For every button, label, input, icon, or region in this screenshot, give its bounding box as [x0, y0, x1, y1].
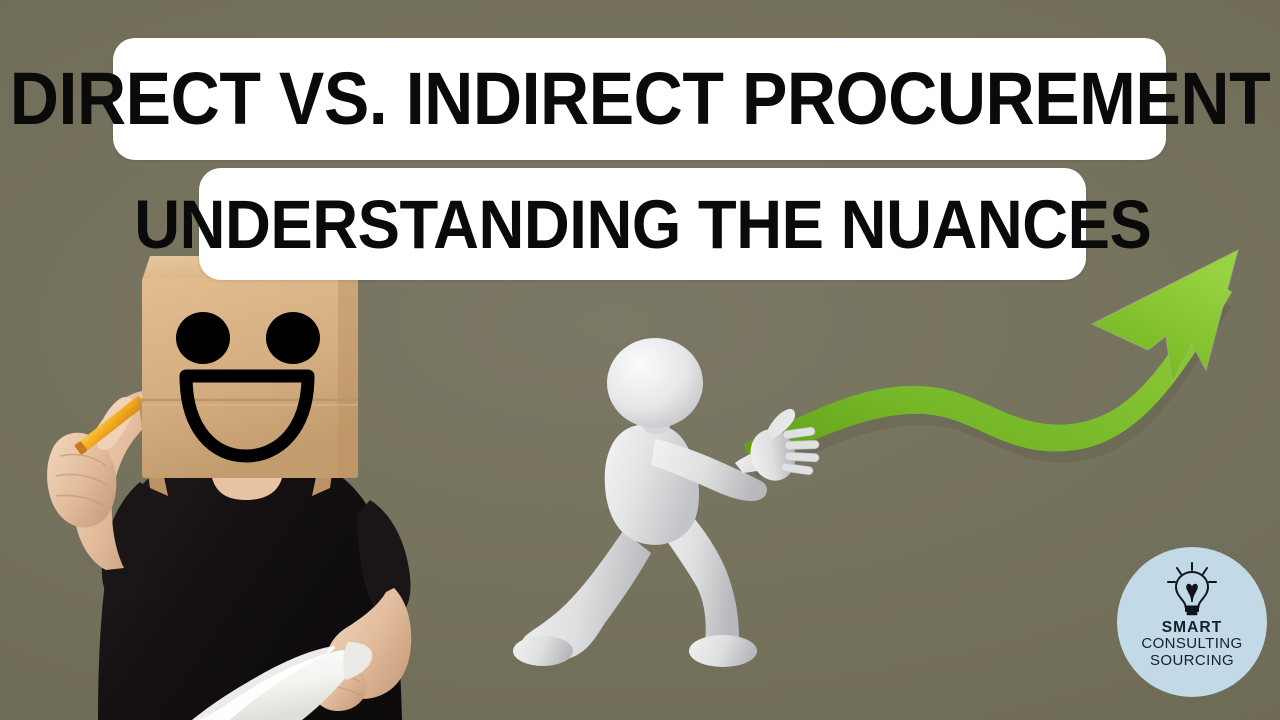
- title-line-1: DIRECT VS. INDIRECT PROCUREMENT: [9, 62, 1269, 136]
- brand-logo-badge[interactable]: SMART CONSULTING SOURCING: [1117, 547, 1267, 697]
- title-banner-secondary: UNDERSTANDING THE NUANCES: [199, 168, 1086, 280]
- lightbulb-icon: [1166, 562, 1218, 616]
- white-3d-figure-pushing-arrow: [505, 335, 825, 680]
- title-line-2: UNDERSTANDING THE NUANCES: [134, 190, 1151, 259]
- person-with-cardboard-box-head: [0, 250, 460, 720]
- logo-wordmark: SMART CONSULTING SOURCING: [1141, 619, 1242, 670]
- logo-line-smart: SMART: [1141, 619, 1242, 636]
- logo-line-sourcing: SOURCING: [1141, 653, 1242, 670]
- title-banner-primary: DIRECT VS. INDIRECT PROCUREMENT: [113, 38, 1166, 160]
- logo-line-consulting: CONSULTING: [1141, 636, 1242, 653]
- poster-canvas: DIRECT VS. INDIRECT PROCUREMENT UNDERSTA…: [0, 0, 1280, 720]
